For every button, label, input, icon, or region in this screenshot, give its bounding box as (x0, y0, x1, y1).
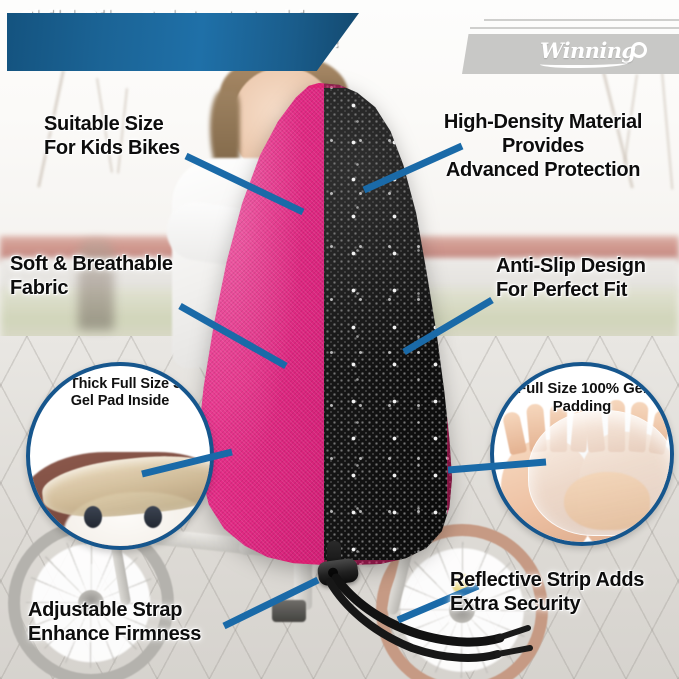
callout-adjustable-strap: Adjustable Strap Enhance Firmness (28, 598, 201, 646)
callout-suitable-size: Suitable Size For Kids Bikes (44, 112, 180, 160)
leader-adjustable-strap (224, 580, 318, 626)
leader-anti-slip (404, 300, 492, 352)
leader-gel-pad-inset (142, 452, 232, 474)
callout-reflective-strip: Reflective Strip Adds Extra Security (450, 568, 644, 616)
leader-gel-padding-inset (448, 462, 546, 470)
product-infographic: Suitable Size For Kids Bikes Soft & Brea… (0, 0, 679, 679)
leader-suitable-size (186, 156, 303, 212)
header-banner (7, 13, 359, 71)
brand-rule (470, 27, 679, 29)
callout-anti-slip: Anti-Slip Design For Perfect Fit (496, 254, 646, 302)
callout-soft-breathable: Soft & Breathable Fabric (10, 252, 173, 300)
callout-high-density: High-Density Material Provides Advanced … (418, 110, 668, 182)
leader-soft-breathable (180, 306, 286, 366)
brand-o-icon (631, 42, 647, 58)
brand-rule (484, 19, 679, 21)
